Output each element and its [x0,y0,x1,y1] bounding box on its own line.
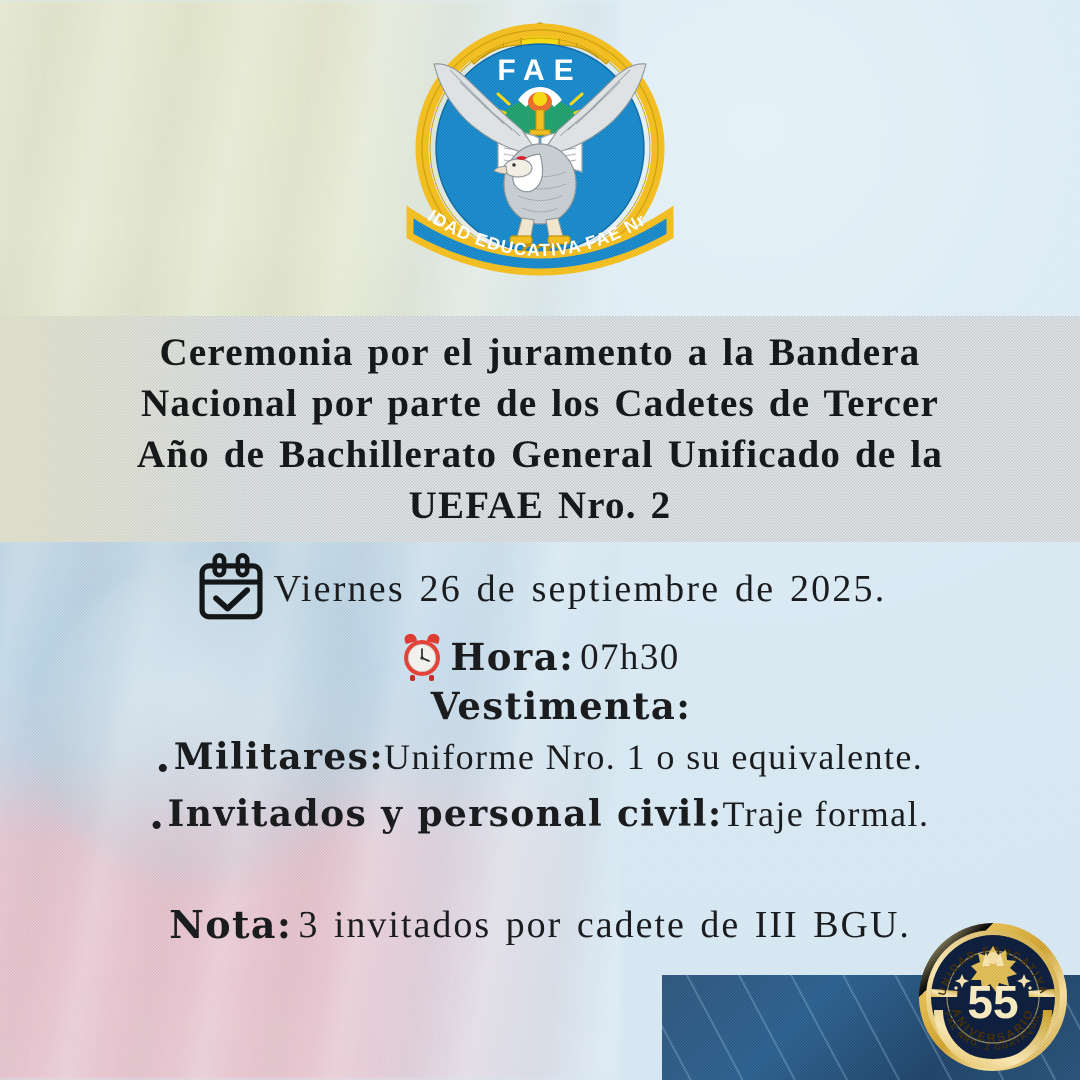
list-item: •Militares:Uniforme Nro. 1 o su equivale… [0,734,1080,791]
title-line-1: Ceremonia por el juramento a la Bandera [40,327,1040,378]
note-value: 3 invitados por cadete de III BGU. [298,903,911,947]
title-band: Ceremonia por el juramento a la Bandera … [0,316,1080,542]
alarm-clock-icon [400,632,444,682]
fae-crest-logo: FAE [390,8,690,293]
dress-code-label: Vestimenta: [431,684,692,728]
dress-code-item-value: Traje formal. [723,794,930,834]
date-row: Viernes 26 de septiembre de 2025. [0,552,1080,626]
calendar-check-icon [194,552,268,626]
dress-code-row: Vestimenta: [0,684,1080,728]
title-line-3: Año de Bachillerato General Unificado de… [40,429,1040,480]
time-label: Hora: [450,635,574,679]
dress-code-item-value: Uniforme Nro. 1 o su equivalente. [384,737,923,777]
page-title: Ceremonia por el juramento a la Bandera … [40,327,1040,531]
badge-number: 55 [967,976,1018,1028]
time-value: 07h30 [580,636,680,679]
event-details: Viernes 26 de septiembre de 2025. Hora: … [0,552,1080,947]
bullet-icon: • [157,750,169,787]
title-line-2: Nacional por parte de los Cadetes de Ter… [40,378,1040,429]
title-line-4: UEFAE Nro. 2 [40,480,1040,531]
svg-text:FAE: FAE [497,54,582,87]
dress-code-item-label: Militares: [174,736,384,778]
list-item: •Invitados y personal civil:Traje formal… [0,791,1080,848]
dress-code-item-label: Invitados y personal civil: [168,793,723,835]
event-date: Viernes 26 de septiembre de 2025. [274,567,887,611]
poster-canvas: FAE [0,0,1080,1080]
55-anniversary-badge: UNIDAD EDUCATIVA 55 [918,922,1068,1072]
time-row: Hora: 07h30 [0,632,1080,682]
dress-code-list: •Militares:Uniforme Nro. 1 o su equivale… [0,734,1080,848]
bullet-icon: • [151,807,163,844]
note-label: Nota: [169,902,292,947]
